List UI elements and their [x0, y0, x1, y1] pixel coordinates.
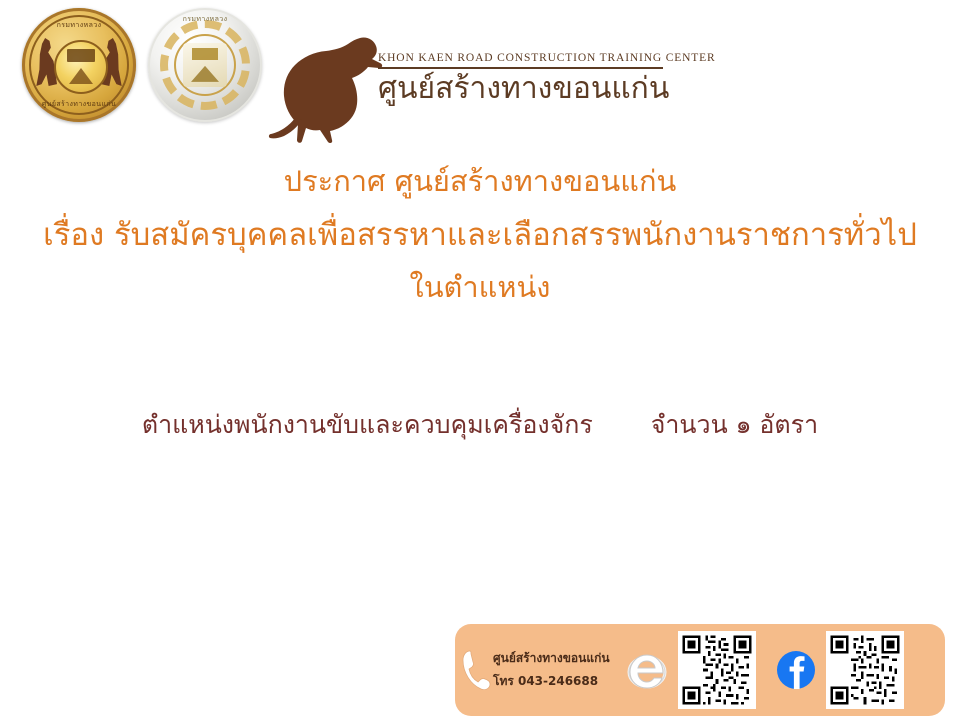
header-logo-band: กรมทางหลวง ศูนย์สร้างทางขอนแก่น กรมทางหล… [0, 0, 960, 150]
announcement-title: ประกาศ ศูนย์สร้างทางขอนแก่น [0, 160, 960, 204]
department-of-highways-silver-seal: กรมทางหลวง [148, 8, 262, 122]
silver-seal-top-text: กรมทางหลวง [148, 14, 262, 25]
position-detail-line: ตำแหน่งพนักงานขับและควบคุมเครื่องจักร จำ… [0, 405, 960, 445]
phone-icon [461, 648, 491, 692]
gold-seal-top-text: กรมทางหลวง [22, 20, 136, 31]
gold-seal-bottom-text: ศูนย์สร้างทางขอนแก่น [22, 99, 136, 110]
facebook-icon[interactable] [774, 648, 818, 692]
announcement-in-position: ในตำแหน่ง [0, 266, 960, 310]
website-qr-code[interactable] [678, 631, 756, 709]
brand-lockup: KHON KAEN ROAD CONSTRUCTION TRAINING CEN… [378, 52, 678, 107]
contact-org-name: ศูนย์สร้างทางขอนแก่น [493, 647, 610, 670]
position-title: ตำแหน่งพนักงานขับและควบคุมเครื่องจักร [142, 410, 593, 439]
contact-phone-number: โทร 043-246688 [493, 670, 610, 693]
seal-emblem [54, 40, 108, 94]
facebook-qr-code[interactable] [826, 631, 904, 709]
contact-footer-bar: ศูนย์สร้างทางขอนแก่น โทร 043-246688 [455, 624, 945, 716]
brand-thai-name: ศูนย์สร้างทางขอนแก่น [378, 70, 678, 108]
silver-seal-emblem [183, 43, 227, 87]
announcement-subject: เรื่อง รับสมัครบุคคลเพื่อสรรหาและเลือกสร… [0, 212, 960, 259]
department-of-highways-gold-seal: กรมทางหลวง ศูนย์สร้างทางขอนแก่น [22, 8, 136, 122]
contact-text-block: ศูนย์สร้างทางขอนแก่น โทร 043-246688 [493, 647, 610, 693]
announcement-headings: ประกาศ ศูนย์สร้างทางขอนแก่น เรื่อง รับสม… [0, 160, 960, 310]
position-count: จำนวน ๑ อัตรา [651, 410, 818, 439]
kangaroo-logo-icon [268, 16, 388, 144]
brand-divider [378, 67, 663, 69]
internet-explorer-icon[interactable] [624, 647, 670, 693]
brand-english-name: KHON KAEN ROAD CONSTRUCTION TRAINING CEN… [378, 52, 678, 67]
